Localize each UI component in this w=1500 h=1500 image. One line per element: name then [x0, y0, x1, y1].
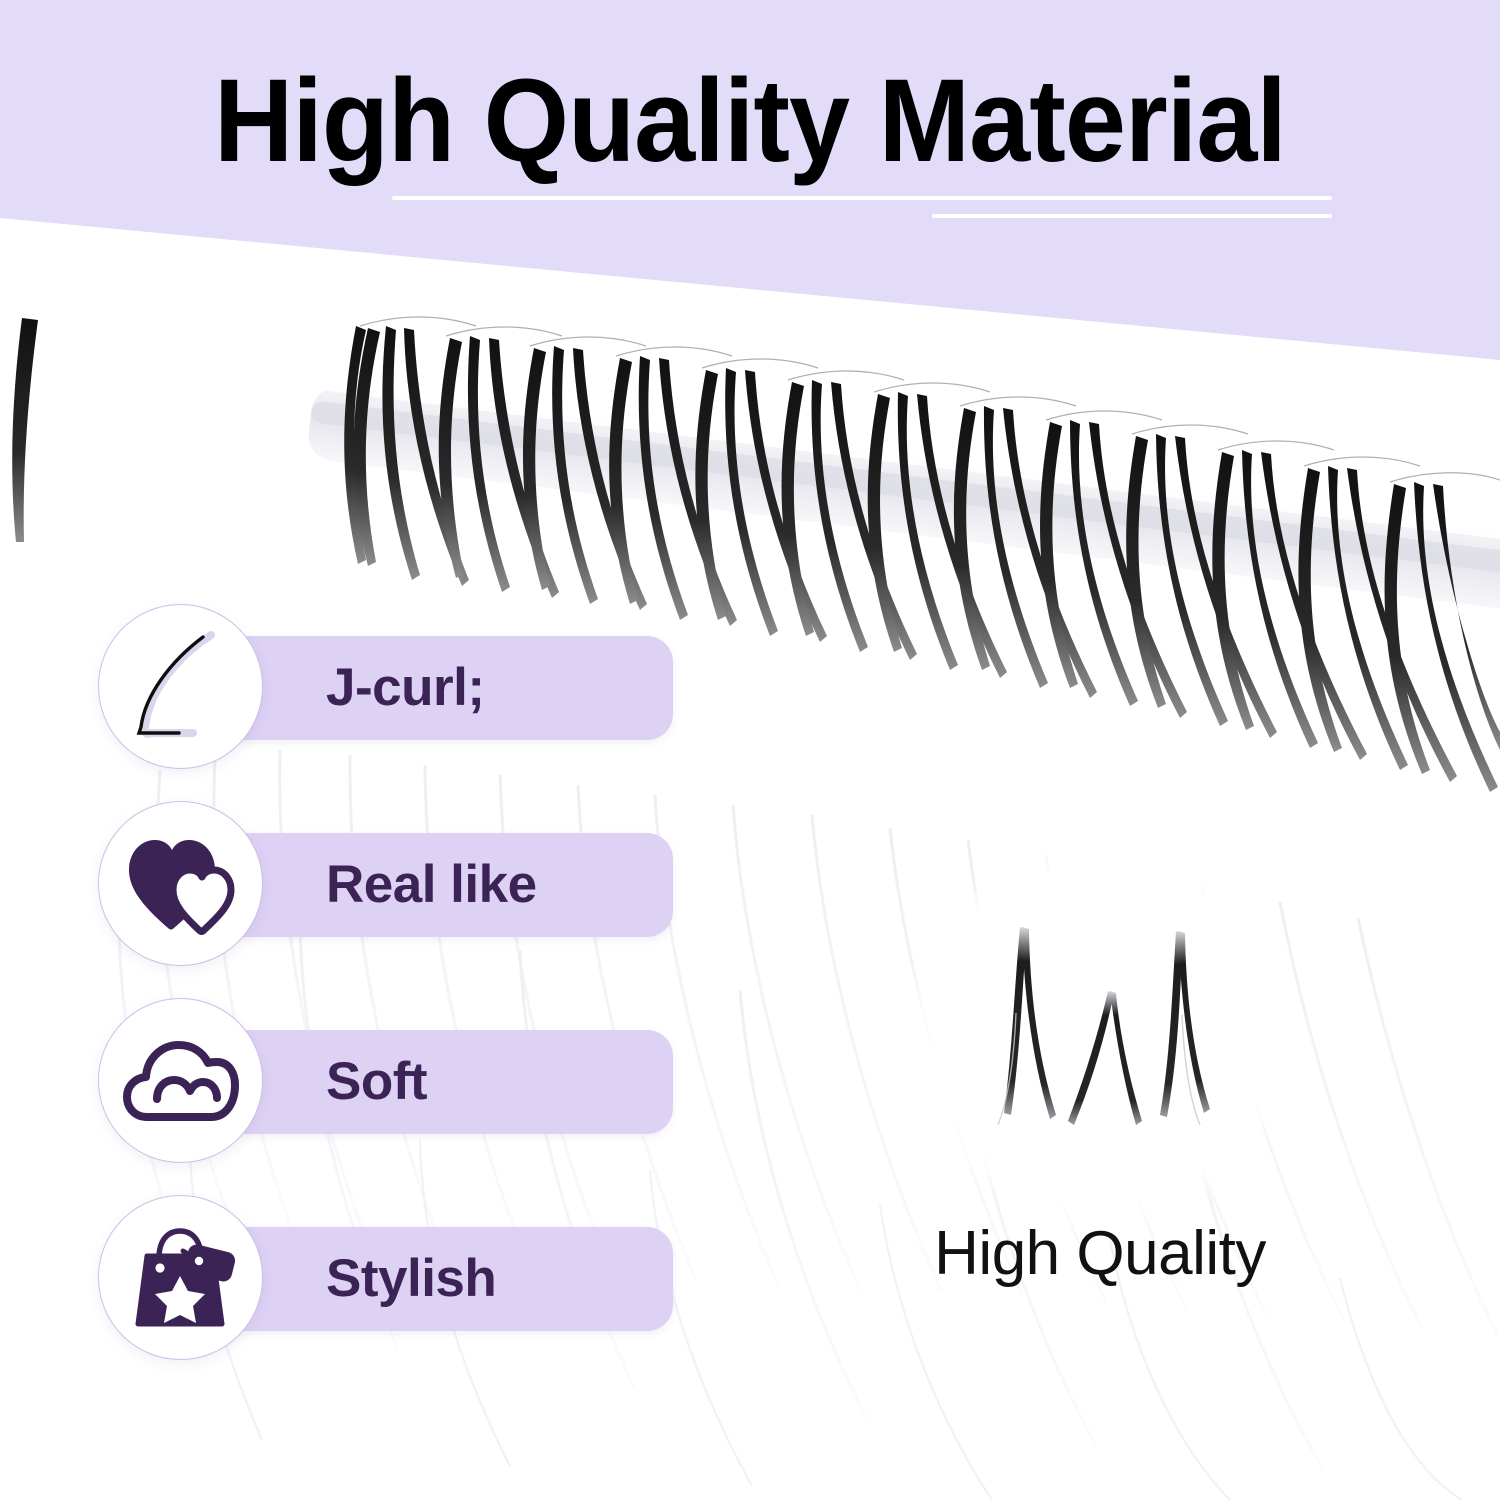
- lash-curve-icon: [115, 621, 247, 753]
- header-rule-short: [932, 214, 1332, 218]
- feature-icon-circle: [98, 998, 263, 1163]
- magnified-lash-fibers: [932, 863, 1270, 1201]
- feature-item-real-like[interactable]: Real like: [98, 801, 598, 966]
- feature-pill: [218, 1030, 673, 1134]
- feature-label: Real like: [326, 833, 537, 937]
- page-title: High Quality Material: [53, 62, 1448, 180]
- feature-icon-circle: [98, 801, 263, 966]
- feature-list: J-curl; Real like Soft: [98, 604, 598, 1392]
- feature-label: J-curl;: [326, 636, 484, 740]
- feature-icon-circle: [98, 604, 263, 769]
- double-heart-icon: [127, 832, 235, 936]
- header-rule-long: [392, 196, 1332, 200]
- feature-item-soft[interactable]: Soft: [98, 998, 598, 1163]
- shopping-bag-star-icon: [127, 1224, 235, 1332]
- cloud-icon: [123, 1035, 239, 1127]
- product-infographic: High Quality Material J-curl; Real like: [0, 0, 1500, 1500]
- feature-label: Stylish: [326, 1227, 496, 1331]
- zoom-detail-bubble: [932, 863, 1270, 1201]
- feature-label: Soft: [326, 1030, 427, 1134]
- feature-item-j-curl[interactable]: J-curl;: [98, 604, 598, 769]
- feature-icon-circle: [98, 1195, 263, 1360]
- zoom-detail-caption: High Quality: [860, 1218, 1340, 1289]
- feature-item-stylish[interactable]: Stylish: [98, 1195, 598, 1360]
